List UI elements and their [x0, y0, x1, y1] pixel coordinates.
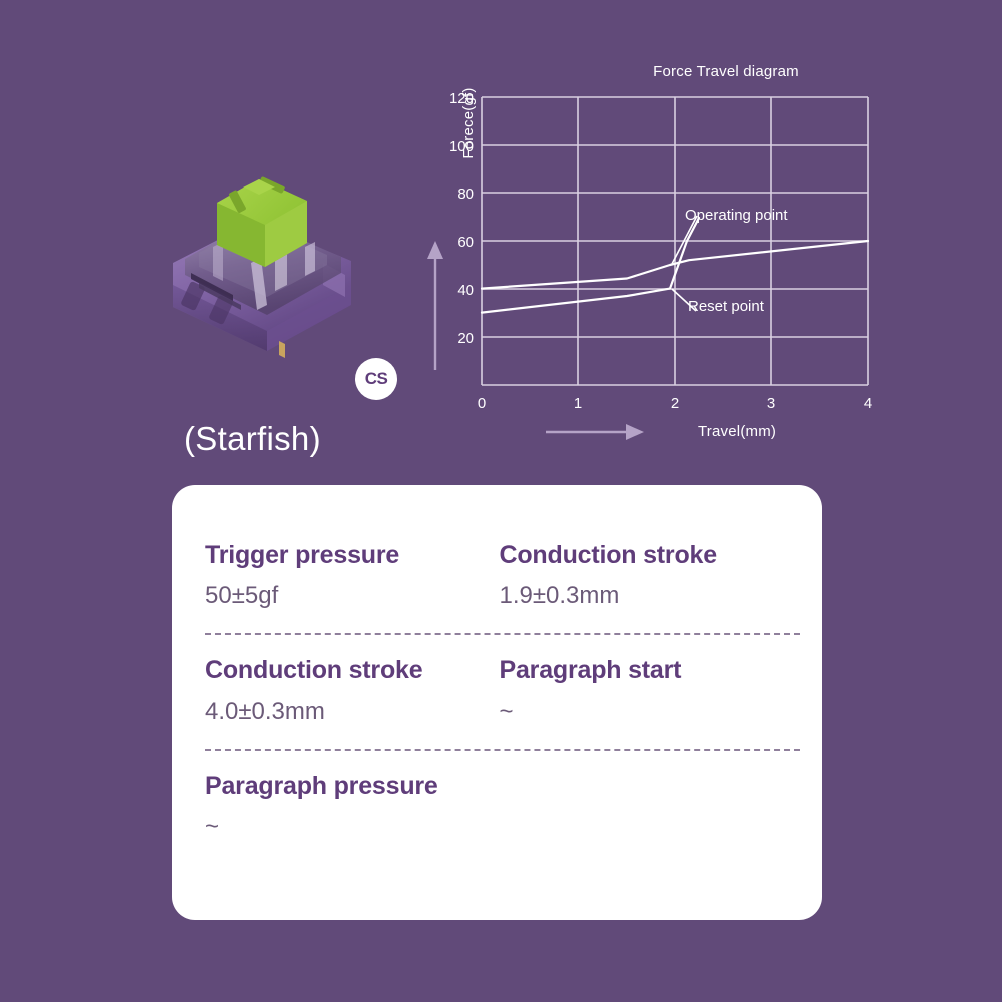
spec-label: Paragraph pressure — [205, 771, 500, 802]
chart-y-tick-labels: 120 100 80 60 40 20 — [449, 90, 474, 347]
svg-text:4: 4 — [864, 395, 872, 412]
annotation-reset-point: Reset point — [688, 298, 764, 315]
x-axis-direction-arrow — [546, 424, 644, 440]
spec-label: Paragraph start — [500, 655, 795, 686]
svg-text:120: 120 — [449, 90, 474, 107]
spec-cell-paragraph-pressure: Paragraph pressure ~ — [205, 771, 500, 842]
svg-text:40: 40 — [457, 282, 474, 299]
svg-text:100: 100 — [449, 138, 474, 155]
spec-row: Conduction stroke 4.0±0.3mm Paragraph st… — [205, 655, 794, 726]
spec-divider — [205, 633, 800, 635]
svg-text:20: 20 — [457, 330, 474, 347]
chart-grid — [482, 97, 868, 385]
product-switch-image — [155, 155, 385, 360]
chart-canvas: 120 100 80 60 40 20 0 1 2 3 4 — [410, 55, 900, 450]
spec-cell-trigger-pressure: Trigger pressure 50±5gf — [205, 540, 500, 611]
cs-badge: CS — [355, 358, 397, 400]
spec-divider — [205, 749, 800, 751]
chart-x-axis-label: Travel(mm) — [698, 423, 776, 440]
svg-text:60: 60 — [457, 234, 474, 251]
svg-text:3: 3 — [767, 395, 775, 412]
chart-x-tick-labels: 0 1 2 3 4 — [478, 395, 872, 412]
y-axis-direction-arrow — [427, 241, 443, 370]
product-name-label: (Starfish) — [184, 420, 321, 458]
spec-cell-paragraph-start: Paragraph start ~ — [500, 655, 795, 726]
switch-illustration — [155, 155, 385, 360]
spec-value: 1.9±0.3mm — [500, 580, 795, 611]
spec-row: Paragraph pressure ~ — [205, 771, 794, 842]
spec-cell-conduction-stroke-2: Conduction stroke 4.0±0.3mm — [205, 655, 500, 726]
annotation-operating-point: Operating point — [685, 207, 788, 224]
spec-label: Conduction stroke — [205, 655, 500, 686]
spec-label: Conduction stroke — [500, 540, 795, 571]
svg-text:80: 80 — [457, 186, 474, 203]
spec-value: 50±5gf — [205, 580, 500, 611]
spec-value: ~ — [500, 696, 795, 727]
spec-value: ~ — [205, 811, 500, 842]
spec-row: Trigger pressure 50±5gf Conduction strok… — [205, 540, 794, 611]
svg-text:0: 0 — [478, 395, 486, 412]
spec-label: Trigger pressure — [205, 540, 500, 571]
switch-pin — [279, 341, 285, 358]
spec-cell-conduction-stroke-1: Conduction stroke 1.9±0.3mm — [500, 540, 795, 611]
specifications-card: Trigger pressure 50±5gf Conduction strok… — [172, 485, 822, 920]
spec-value: 4.0±0.3mm — [205, 696, 500, 727]
svg-text:1: 1 — [574, 395, 582, 412]
svg-text:2: 2 — [671, 395, 679, 412]
force-travel-chart: Force Travel diagram Forece(gf) 120 100 … — [410, 55, 900, 450]
